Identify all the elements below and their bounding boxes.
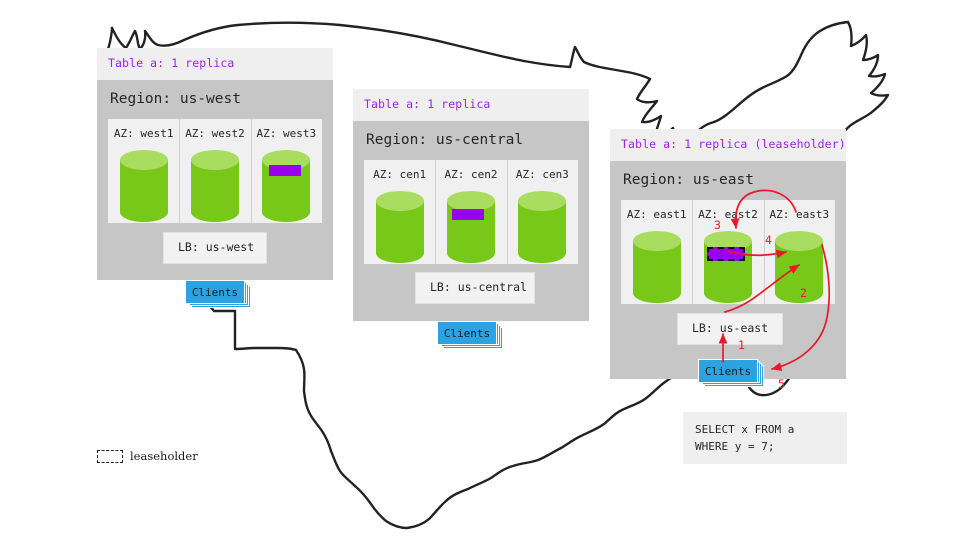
replica-cylinder-cen3 bbox=[517, 190, 567, 264]
replica-band-west3 bbox=[269, 165, 301, 176]
arrow-number-4: 4 bbox=[765, 235, 772, 247]
region-panel-us-west: Table a: 1 replica Region: us-west AZ: w… bbox=[97, 48, 333, 280]
az-east1[interactable]: AZ: east1 bbox=[621, 200, 692, 304]
region-panel-us-east: Table a: 1 replica (leaseholder) Region:… bbox=[610, 129, 846, 379]
leaseholder-band-east2 bbox=[707, 247, 745, 261]
az-row-us-central: AZ: cen1 AZ: cen2 bbox=[364, 160, 578, 264]
clients-us-east[interactable]: Clients bbox=[699, 360, 763, 386]
legend-leaseholder: leaseholder bbox=[97, 450, 198, 463]
clients-us-central[interactable]: Clients bbox=[438, 322, 502, 348]
diagram-canvas: Table a: 1 replica Region: us-west AZ: w… bbox=[0, 0, 960, 540]
az-west3[interactable]: AZ: west3 bbox=[251, 119, 322, 223]
az-west1[interactable]: AZ: west1 bbox=[108, 119, 179, 223]
az-cen1[interactable]: AZ: cen1 bbox=[364, 160, 435, 264]
load-balancer-us-central[interactable]: LB: us-central bbox=[416, 273, 534, 303]
sql-query-box: SELECT x FROM a WHERE y = 7; bbox=[683, 412, 847, 464]
panel-header-us-central: Table a: 1 replica bbox=[353, 89, 589, 121]
replica-cylinder-west3 bbox=[261, 149, 311, 223]
load-balancer-us-west[interactable]: LB: us-west bbox=[164, 233, 266, 263]
az-label-west2: AZ: west2 bbox=[185, 128, 245, 139]
az-west2[interactable]: AZ: west2 bbox=[179, 119, 250, 223]
replica-cylinder-east2 bbox=[703, 230, 753, 304]
az-label-west1: AZ: west1 bbox=[114, 128, 174, 139]
az-label-east3: AZ: east3 bbox=[770, 209, 830, 220]
az-label-cen3: AZ: cen3 bbox=[516, 169, 569, 180]
legend-label: leaseholder bbox=[130, 451, 198, 463]
arrow-number-2: 2 bbox=[800, 288, 807, 300]
replica-cylinder-east1 bbox=[632, 230, 682, 304]
region-title-us-central: Region: us-central bbox=[364, 121, 578, 161]
arrow-number-3: 3 bbox=[714, 220, 721, 232]
region-panel-us-central: Table a: 1 replica Region: us-central AZ… bbox=[353, 89, 589, 321]
region-title-us-east: Region: us-east bbox=[621, 161, 835, 201]
replica-cylinder-cen1 bbox=[375, 190, 425, 264]
replica-band-cen2 bbox=[452, 209, 484, 220]
clients-label-us-west: Clients bbox=[186, 281, 244, 303]
replica-cylinder-cen2 bbox=[446, 190, 496, 264]
az-label-west3: AZ: west3 bbox=[257, 128, 317, 139]
clients-label-us-central: Clients bbox=[438, 322, 496, 344]
dashed-rect-icon bbox=[97, 450, 123, 463]
arrow-number-5: 5 bbox=[778, 379, 785, 391]
az-label-cen1: AZ: cen1 bbox=[373, 169, 426, 180]
az-row-us-west: AZ: west1 AZ: west2 bbox=[108, 119, 322, 223]
az-label-east1: AZ: east1 bbox=[627, 209, 687, 220]
region-title-us-west: Region: us-west bbox=[108, 80, 322, 120]
panel-header-us-east: Table a: 1 replica (leaseholder) bbox=[610, 129, 846, 161]
clients-label-us-east: Clients bbox=[699, 360, 757, 382]
arrow-number-1: 1 bbox=[738, 340, 745, 352]
clients-us-west[interactable]: Clients bbox=[186, 281, 250, 307]
az-cen2[interactable]: AZ: cen2 bbox=[435, 160, 506, 264]
replica-cylinder-west2 bbox=[190, 149, 240, 223]
az-label-east2: AZ: east2 bbox=[698, 209, 758, 220]
az-cen3[interactable]: AZ: cen3 bbox=[507, 160, 578, 264]
replica-cylinder-west1 bbox=[119, 149, 169, 223]
load-balancer-us-east[interactable]: LB: us-east bbox=[678, 314, 782, 344]
panel-header-us-west: Table a: 1 replica bbox=[97, 48, 333, 80]
panel-body-us-east: Region: us-east AZ: east1 AZ: east2 bbox=[610, 161, 846, 380]
az-east2[interactable]: AZ: east2 bbox=[692, 200, 763, 304]
az-label-cen2: AZ: cen2 bbox=[445, 169, 498, 180]
